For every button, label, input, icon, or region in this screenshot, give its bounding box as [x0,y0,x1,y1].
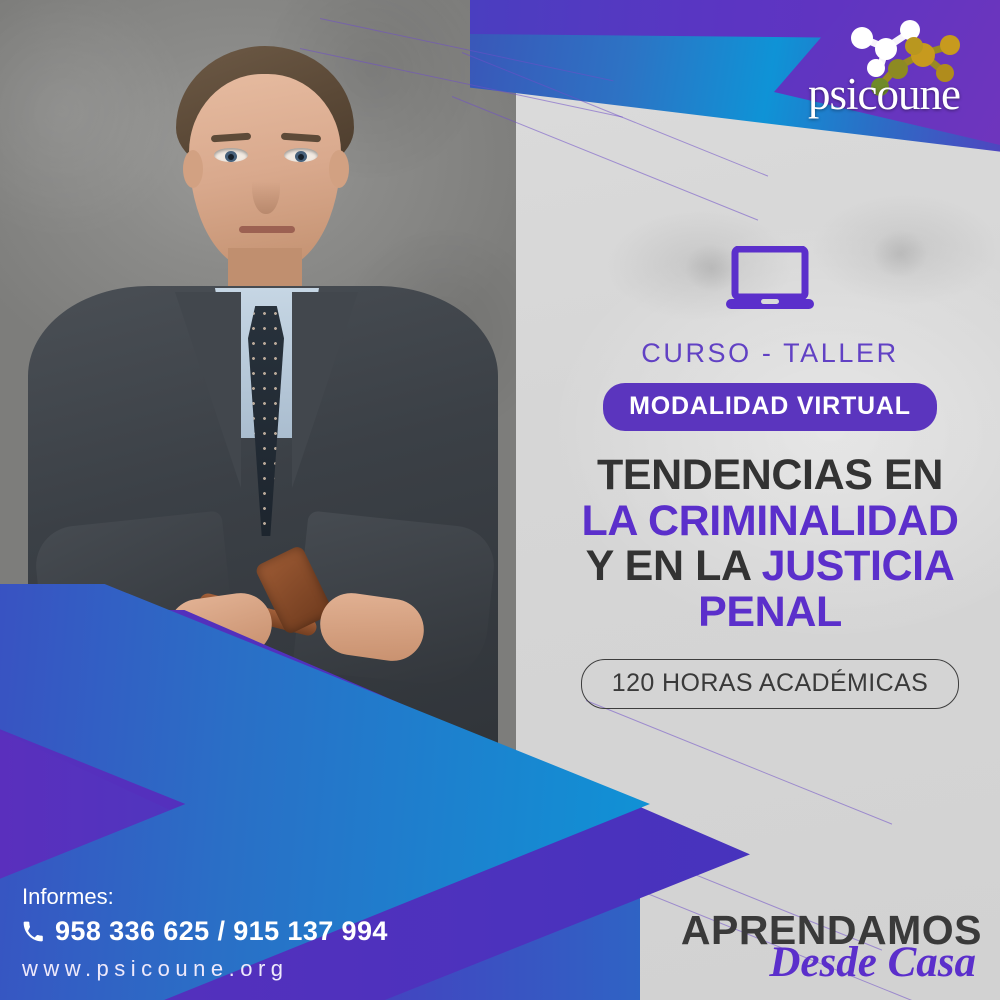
title-line-3: Y EN LA JUSTICIA [540,544,1000,590]
contact-block: Informes: 958 336 625 / 915 137 994 www.… [22,884,388,982]
phone-icon [22,921,44,943]
contact-label: Informes: [22,884,388,910]
eye-left [214,148,248,162]
mouth [239,226,295,233]
modality-badge: MODALIDAD VIRTUAL [603,383,937,431]
title-line-2: LA CRIMINALIDAD [540,499,1000,545]
ear-left [183,150,203,188]
brand-logo: psicoune [786,14,982,122]
title-line-1: TENDENCIAS EN [540,453,1000,499]
course-title: TENDENCIAS EN LA CRIMINALIDAD Y EN LA JU… [540,453,1000,635]
laptop-icon [724,246,816,312]
ear-right [329,150,349,188]
hours-badge: 120 HORAS ACADÉMICAS [581,659,959,709]
nose [252,160,280,214]
logo-wordmark: psicoune [786,68,982,120]
lapel-right [292,292,358,488]
promotional-poster: psicoune CURSO - TALLER MODALIDAD VIRTUA… [0,0,1000,1000]
tagline-block: APRENDAMOS Desde Casa [681,910,982,984]
course-kicker: CURSO - TALLER [540,338,1000,369]
contact-phone: 958 336 625 / 915 137 994 [22,916,388,947]
website-url: www.psicoune.org [22,956,388,982]
title-line-4: PENAL [540,590,1000,636]
course-info: CURSO - TALLER MODALIDAD VIRTUAL TENDENC… [540,246,1000,709]
eye-right [284,148,318,162]
phone-numbers: 958 336 625 / 915 137 994 [55,916,388,947]
lapel-left [175,292,241,488]
